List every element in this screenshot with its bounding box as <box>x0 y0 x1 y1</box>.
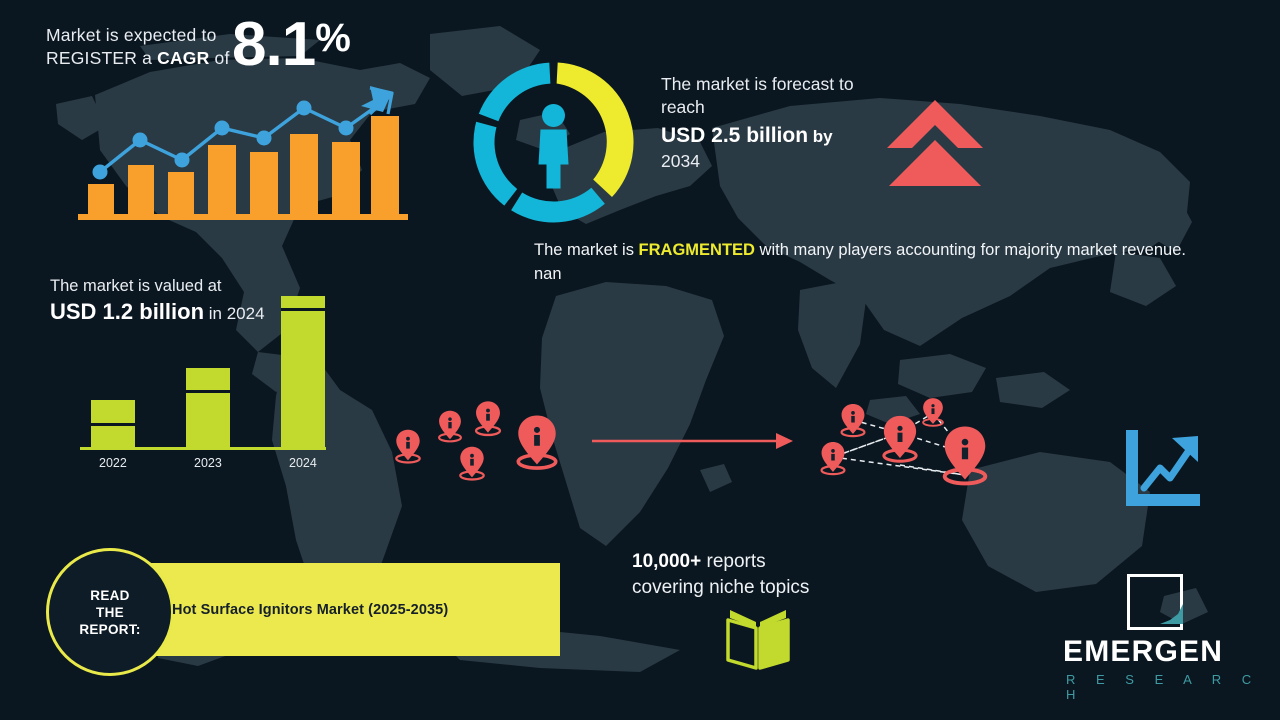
cagr-percent-sign: % <box>315 16 350 60</box>
pin-cluster-left <box>380 385 570 495</box>
bar-2024-divider <box>281 308 325 311</box>
bar-label-2022: 2022 <box>99 456 127 470</box>
fragmented-pre: The market is <box>534 241 639 259</box>
donut-segment-cyan-bottom <box>511 188 605 223</box>
cagr-keyword: CAGR <box>157 48 209 68</box>
cagr-number: 8.1 <box>232 10 315 79</box>
forecast-by-word: by <box>808 127 833 146</box>
reports-count-text: 10,000+ reports covering niche topics <box>632 549 932 601</box>
read-report-badge[interactable]: READ THE REPORT: <box>46 548 174 676</box>
market-share-donut-chart <box>466 55 641 230</box>
pin-cluster-right-network <box>805 385 1010 500</box>
reports-count-line-2: covering niche topics <box>632 577 809 598</box>
growth-trend-chart <box>70 80 415 220</box>
bar-2023-divider <box>186 390 230 393</box>
donut-segment-cyan-top <box>479 63 551 122</box>
person-icon <box>539 104 569 189</box>
bar-2023 <box>186 368 230 448</box>
badge-line-1: READ <box>79 587 140 604</box>
donut-segment-yellow <box>557 63 634 198</box>
value-baseline <box>80 447 326 450</box>
open-book-icon <box>720 608 796 670</box>
cagr-value: 8.1% <box>232 14 350 76</box>
forecast-heading: The market is forecast to reach <box>661 73 886 119</box>
report-title[interactable]: Hot Surface Ignitors Market (2025-2035) <box>172 602 448 618</box>
bar-label-2024: 2024 <box>289 456 317 470</box>
double-chevron-up-icon <box>884 96 986 186</box>
growth-chart-icon <box>1122 428 1204 510</box>
infographic-canvas: Market is expected to REGISTER a CAGR of… <box>0 0 1280 720</box>
cagr-line-2-pre: REGISTER a <box>46 48 157 68</box>
fragmented-statement: The market is FRAGMENTED with many playe… <box>534 238 1206 286</box>
trend-baseline <box>78 214 408 220</box>
forecast-year: 2034 <box>661 150 700 173</box>
badge-line-3: REPORT: <box>79 621 140 638</box>
bar-2024 <box>281 296 325 448</box>
reports-count-suffix: reports <box>701 551 765 572</box>
value-bars <box>91 296 325 448</box>
forecast-value: USD 2.5 billion by <box>661 123 921 150</box>
forecast-line-2: reach <box>661 97 705 117</box>
trend-arrow-fill <box>361 86 392 112</box>
cagr-line-1: Market is expected to <box>46 25 217 45</box>
right-arrow-icon <box>590 428 795 454</box>
forecast-line-1: The market is forecast to <box>661 74 854 94</box>
logo-accent-icon <box>1160 604 1183 627</box>
reports-count-number: 10,000+ <box>632 551 701 572</box>
logo-subtitle: R E S E A R C H <box>1066 672 1280 702</box>
market-value-label: The market is valued at <box>50 275 222 297</box>
forecast-amount: USD 2.5 billion <box>661 124 808 147</box>
market-value-bar-chart <box>80 295 330 475</box>
bar-label-2023: 2023 <box>194 456 222 470</box>
read-report-badge-text: READ THE REPORT: <box>79 587 140 638</box>
donut-segment-cyan-left <box>473 122 517 206</box>
bar-2022-divider <box>91 423 135 426</box>
logo-wordmark: EMERGEN <box>1063 636 1223 668</box>
fragmented-keyword: FRAGMENTED <box>639 241 755 259</box>
badge-line-2: THE <box>79 604 140 621</box>
cagr-line-2-post: of <box>209 48 229 68</box>
